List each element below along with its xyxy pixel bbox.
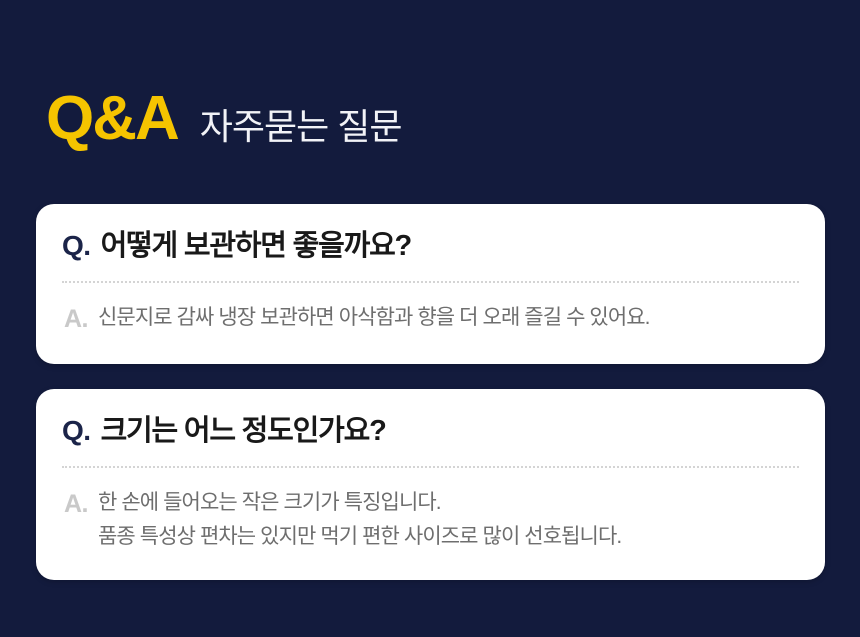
answer-line: 한 손에 들어오는 작은 크기가 특징입니다. — [98, 486, 621, 520]
question-marker: Q. — [62, 413, 91, 448]
faq-item[interactable]: Q. 크기는 어느 정도인가요? A. 한 손에 들어오는 작은 크기가 특징입… — [36, 389, 825, 580]
answer-body: 신문지로 감싸 냉장 보관하면 아삭함과 향을 더 오래 즐길 수 있어요. — [98, 301, 650, 335]
answer-body: 한 손에 들어오는 작은 크기가 특징입니다. 품종 특성상 편차는 있지만 먹… — [98, 486, 621, 554]
answer-marker: A. — [64, 486, 88, 522]
faq-divider — [62, 281, 799, 283]
faq-answer-row: A. 신문지로 감싸 냉장 보관하면 아삭함과 향을 더 오래 즐길 수 있어요… — [60, 301, 801, 337]
section-header: Q&A 자주묻는 질문 — [46, 88, 402, 164]
faq-divider — [62, 466, 799, 468]
qa-page: Q&A 자주묻는 질문 Q. 어떻게 보관하면 좋을까요? A. 신문지로 감싸… — [0, 0, 860, 637]
answer-marker: A. — [64, 301, 88, 337]
question-text: 크기는 어느 정도인가요? — [101, 413, 386, 449]
faq-item[interactable]: Q. 어떻게 보관하면 좋을까요? A. 신문지로 감싸 냉장 보관하면 아삭함… — [36, 204, 825, 364]
faq-question-row: Q. 어떻게 보관하면 좋을까요? — [60, 228, 801, 264]
answer-line: 품종 특성상 편차는 있지만 먹기 편한 사이즈로 많이 선호됩니다. — [98, 520, 621, 554]
answer-line: 신문지로 감싸 냉장 보관하면 아삭함과 향을 더 오래 즐길 수 있어요. — [98, 301, 650, 335]
faq-answer-row: A. 한 손에 들어오는 작은 크기가 특징입니다. 품종 특성상 편차는 있지… — [60, 486, 801, 554]
section-subtitle: 자주묻는 질문 — [200, 109, 402, 145]
faq-question-row: Q. 크기는 어느 정도인가요? — [60, 413, 801, 449]
question-text: 어떻게 보관하면 좋을까요? — [101, 228, 412, 264]
question-marker: Q. — [62, 228, 91, 263]
qa-logo: Q&A — [46, 88, 178, 150]
faq-list: Q. 어떻게 보관하면 좋을까요? A. 신문지로 감싸 냉장 보관하면 아삭함… — [36, 204, 825, 580]
